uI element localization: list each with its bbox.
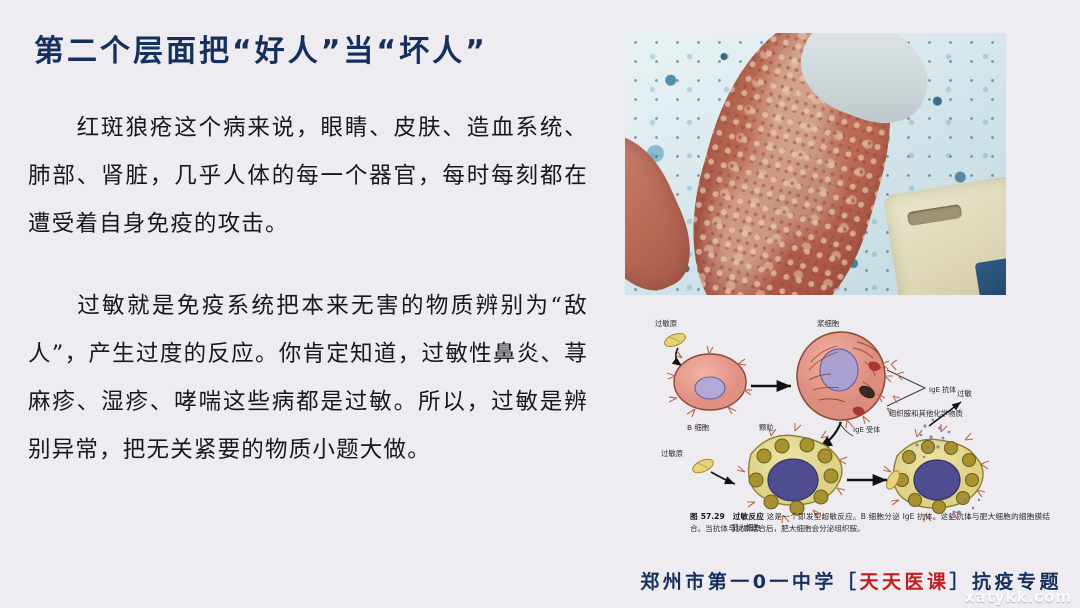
label-plasma-cell: 浆细胞 bbox=[817, 319, 840, 328]
slide-root: 第二个层面把“好人”当“坏人” 红斑狼疮这个病来说，眼睛、皮肤、造血系统、肺部、… bbox=[0, 0, 1080, 608]
label-allergen-top: 过敏原 bbox=[655, 319, 677, 328]
footer-bracket-left: ［ bbox=[837, 571, 860, 593]
label-allergen-bottom: 过敏原 bbox=[661, 449, 683, 458]
footer-bar: 郑州市第一0一中学［天天医课］抗疫专题 bbox=[0, 567, 1080, 594]
paragraph-1: 红斑狼疮这个病来说，眼睛、皮肤、造血系统、肺部、肾脏，几乎人体的每一个器官，每时… bbox=[28, 104, 588, 248]
watermark: xatykk.com bbox=[965, 588, 1072, 606]
label-granule: 颗粒 bbox=[759, 423, 774, 432]
label-ige-receptor: IgE 受体 bbox=[853, 425, 880, 434]
photo-device-slot bbox=[906, 204, 962, 226]
ige-antibody-glyph bbox=[887, 360, 904, 415]
label-b-cell: B 细胞 bbox=[687, 423, 710, 432]
caption-figure-no: 图 57.29 bbox=[690, 512, 725, 521]
paragraph-2-text: 过敏就是免疫系统把本来无害的物质辨别为“敌人”，产生过度的反应。你肯定知道，过敏… bbox=[28, 293, 588, 463]
page-title: 第二个层面把“好人”当“坏人” bbox=[34, 26, 488, 70]
photo-bedside-device bbox=[883, 176, 1006, 295]
paragraph-1-text: 红斑狼疮这个病来说，眼睛、皮肤、造血系统、肺部、肾脏，几乎人体的每一个器官，每时… bbox=[28, 115, 588, 237]
photo-device-blue-panel bbox=[975, 253, 1006, 295]
caption-figure-title: 过敏反应 bbox=[733, 512, 764, 521]
allergy-reaction-diagram: 过敏原 浆细胞 B 细胞 颗粒 IgE 抗体 IgE 受体 过敏原 肥大细胞 组… bbox=[625, 304, 1025, 544]
plasma-cell-glyph bbox=[797, 326, 893, 428]
paragraph-2: 过敏就是免疫系统把本来无害的物质辨别为“敌人”，产生过度的反应。你肯定知道，过敏… bbox=[28, 282, 588, 474]
label-allergy: 过敏 bbox=[957, 389, 972, 398]
diagram-caption: 图 57.29 过敏反应 这是一个即发型超敏反应。B 细胞分泌 IgE 抗体。这… bbox=[690, 511, 1050, 535]
label-ige-antibody: IgE 抗体 bbox=[929, 385, 956, 394]
allergen-top-glyph bbox=[663, 331, 688, 349]
b-cell-glyph bbox=[667, 346, 752, 417]
footer-program: 天天医课 bbox=[859, 571, 949, 593]
body-text-column: 红斑狼疮这个病来说，眼睛、皮肤、造血系统、肺部、肾脏，几乎人体的每一个器官，每时… bbox=[28, 104, 588, 474]
lupus-rash-photo bbox=[625, 33, 1006, 295]
label-histamine: 组织胺和其他化学物质 bbox=[889, 409, 964, 418]
footer-school: 郑州市第一0一中学 bbox=[640, 571, 837, 593]
